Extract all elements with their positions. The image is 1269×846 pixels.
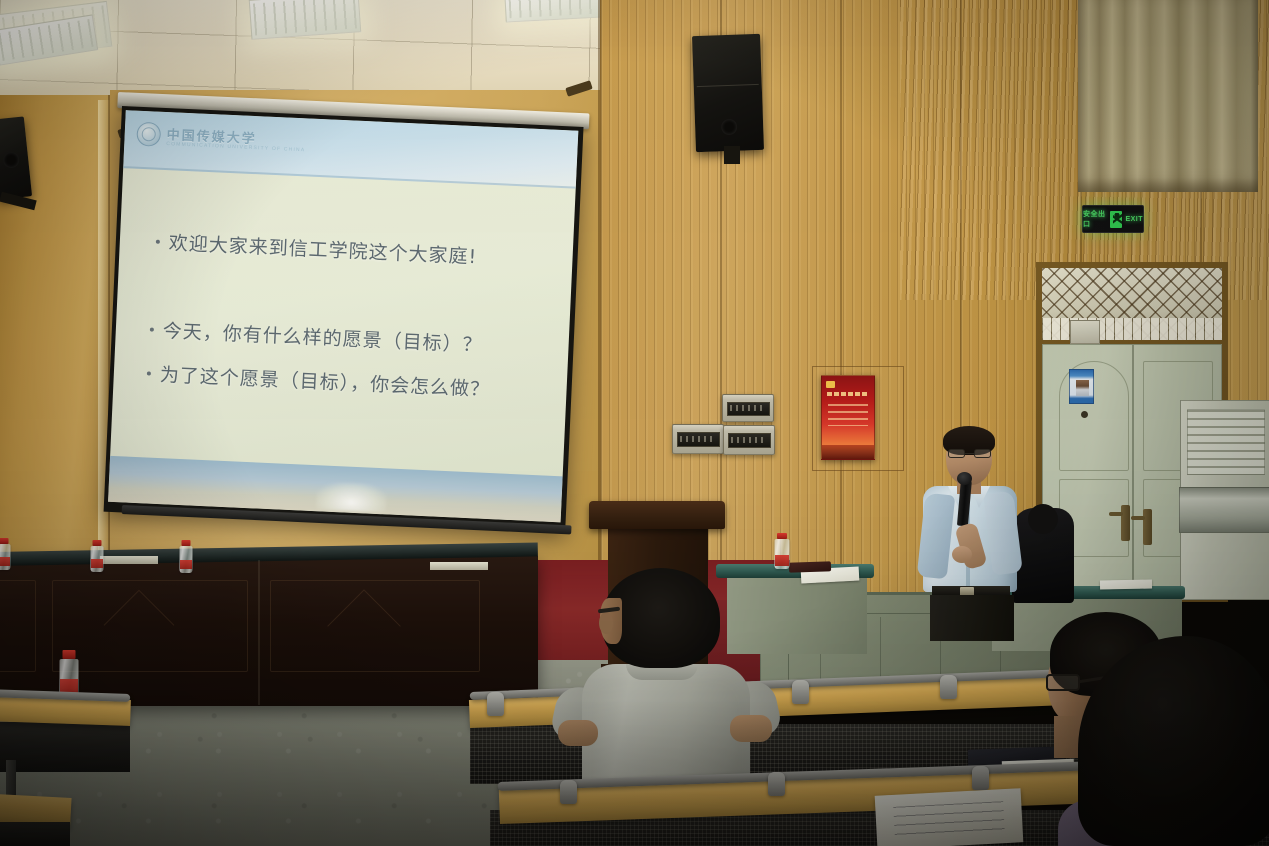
bench-row2-clamp-2: [768, 772, 785, 796]
bench-row1-clamp-1: [487, 692, 504, 716]
bottle-label: [0, 557, 10, 566]
student-hand-right: [730, 715, 772, 742]
bullet-dot-icon: [150, 327, 154, 331]
presenter-trousers: [930, 595, 1014, 641]
presenter-hand: [952, 546, 972, 563]
pa-bracket-right: [724, 146, 740, 164]
university-seal-icon: [136, 122, 161, 147]
bench-row2-clamp-1: [560, 780, 577, 804]
bottle-cap: [63, 650, 76, 659]
bullet-dot-icon: [156, 240, 160, 244]
id-card-notice: [1069, 369, 1094, 404]
projection-screen: 中国传媒大学 COMMUNICATION UNIVERSITY OF CHINA…: [104, 106, 584, 533]
ac-vent-duct: [1179, 487, 1269, 533]
bottle-label: [91, 559, 103, 568]
desk-folder: [789, 561, 831, 572]
slide-bullet-1: 欢迎大家来到信工学院这个大家庭!: [155, 228, 478, 270]
electrical-panel-top[interactable]: [722, 394, 774, 422]
pa-speaker-right: [692, 34, 764, 152]
wall-switch-box[interactable]: [1070, 320, 1100, 344]
worksheet-handwriting: [893, 801, 1005, 837]
ac-louvres-icon: [1187, 409, 1265, 475]
lectern-top: [589, 501, 725, 529]
student-hand-left: [558, 720, 598, 746]
bottle-label: [180, 560, 192, 569]
emergency-exit-sign: 安全出口 EXIT: [1082, 205, 1144, 233]
side-desk-papers: [1100, 580, 1152, 590]
speaker-seam: [696, 84, 759, 87]
window-curtain: [1078, 0, 1258, 192]
bullet-dot-icon: [147, 371, 151, 375]
running-man-icon: [1110, 211, 1123, 228]
electrical-panel-left[interactable]: [672, 424, 724, 454]
panel-window: [677, 432, 720, 447]
curtain-hem: [1078, 178, 1258, 192]
door-peephole-icon: [1081, 411, 1088, 418]
door-handle-right[interactable]: [1143, 509, 1152, 545]
attendee-glasses-icon: [1046, 674, 1080, 691]
lecture-hall-photo: 安全出口 EXIT: [0, 0, 1269, 846]
door-split-seam: [1132, 345, 1134, 593]
slide-header-rule: [123, 166, 576, 189]
air-conditioner-cabinet: [1180, 400, 1269, 600]
water-bottle-2: [89, 540, 105, 572]
slide-bullet-3-text: 为了这个愿景（目标），你会怎么做？: [159, 364, 490, 401]
poster-text-lines: [828, 404, 868, 426]
panel-window: [728, 433, 771, 448]
presenter: [900, 420, 1060, 610]
desk-nameplate-1: [100, 556, 158, 564]
slide-bullet-2: 今天，你有什么样的愿景（目标）？: [149, 316, 483, 358]
glasses-lens-right: [974, 449, 991, 458]
poster-base-illustration: [822, 445, 874, 459]
door-handle-left[interactable]: [1121, 505, 1130, 541]
student-foreground: [542, 560, 792, 806]
desk-nameplate-2: [430, 562, 488, 570]
presenter-glasses-icon: [948, 449, 991, 458]
bench-row2-clamp-3: [972, 766, 989, 790]
water-bottle-1: [0, 538, 12, 570]
panel-window: [727, 402, 770, 416]
glasses-bridge: [965, 453, 974, 454]
electrical-panel-right[interactable]: [723, 425, 775, 455]
transom-window: [1042, 268, 1222, 340]
speaker-woofer-icon: [2, 151, 20, 169]
desk-carving-far-left: [0, 580, 36, 672]
poster-badge-icon: [826, 381, 835, 388]
bench-left-front-body: [0, 822, 70, 846]
slide-bullet-2-text: 今天，你有什么样的愿景（目标）？: [162, 320, 483, 356]
slide-photo-highlight: [316, 481, 387, 512]
student-ear: [599, 612, 613, 634]
bench-left-front: [0, 722, 130, 772]
poster-heading-line: [827, 392, 869, 396]
speaker-woofer-icon: [721, 119, 738, 136]
bench-row1-clamp-3: [940, 675, 957, 699]
slide-bullet-1-text: 欢迎大家来到信工学院这个大家庭!: [168, 232, 477, 268]
transom-louvres: [1042, 318, 1222, 340]
bench-row1-clamp-2: [792, 680, 809, 704]
notice-portrait-photo: [1076, 380, 1089, 396]
core-values-poster: [821, 375, 875, 460]
microphone-head-icon: [957, 472, 972, 485]
panel-desk: [0, 556, 538, 706]
panel-desk-seam: [258, 560, 260, 705]
glasses-lens-left: [948, 449, 965, 458]
exit-sign-label-en: EXIT: [1125, 216, 1143, 223]
slide-surface: 中国传媒大学 COMMUNICATION UNIVERSITY OF CHINA…: [108, 110, 578, 522]
exit-sign-label-cn: 安全出口: [1083, 209, 1107, 229]
water-bottle-3: [178, 540, 194, 573]
slide-bullet-3: 为了这个愿景（目标），你会怎么做？: [146, 359, 490, 402]
worksheet-paper: [875, 788, 1024, 846]
